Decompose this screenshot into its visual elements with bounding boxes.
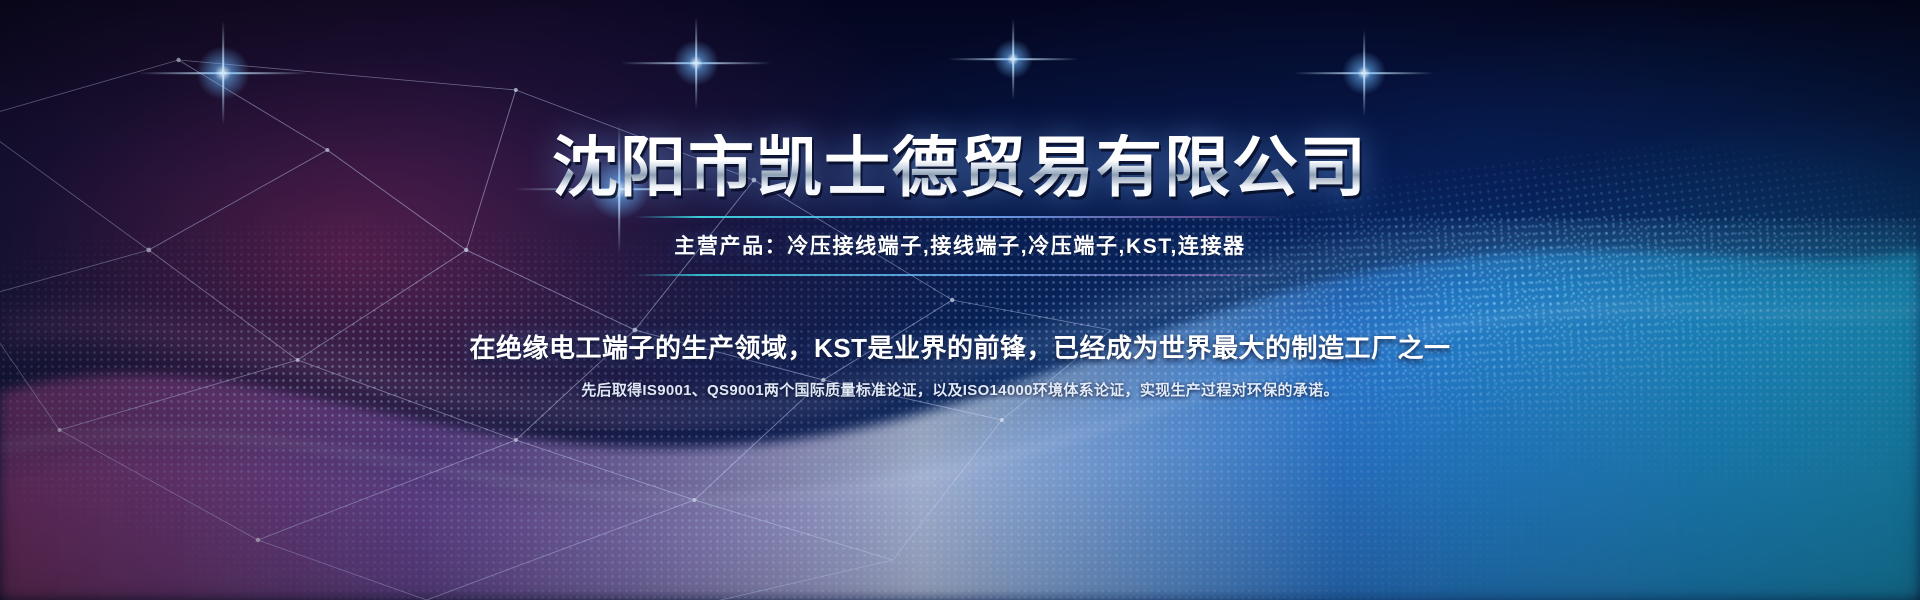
tagline: 在绝缘电工端子的生产领域，KST是业界的前锋，已经成为世界最大的制造工厂之一 xyxy=(469,328,1450,365)
promo-banner: 沈阳市凯士德贸易有限公司 主营产品：冷压接线端子,接线端子,冷压端子,KST,连… xyxy=(0,0,1920,600)
divider-bottom xyxy=(635,274,1285,276)
product-subtitle: 主营产品：冷压接线端子,接线端子,冷压端子,KST,连接器 xyxy=(674,230,1245,260)
divider-top xyxy=(635,216,1285,218)
company-title: 沈阳市凯士德贸易有限公司 xyxy=(552,134,1368,200)
banner-content: 沈阳市凯士德贸易有限公司 主营产品：冷压接线端子,接线端子,冷压端子,KST,连… xyxy=(0,0,1920,600)
certification-note: 先后取得IS9001、QS9001两个国际质量标准论证，以及ISO14000环境… xyxy=(581,379,1339,400)
